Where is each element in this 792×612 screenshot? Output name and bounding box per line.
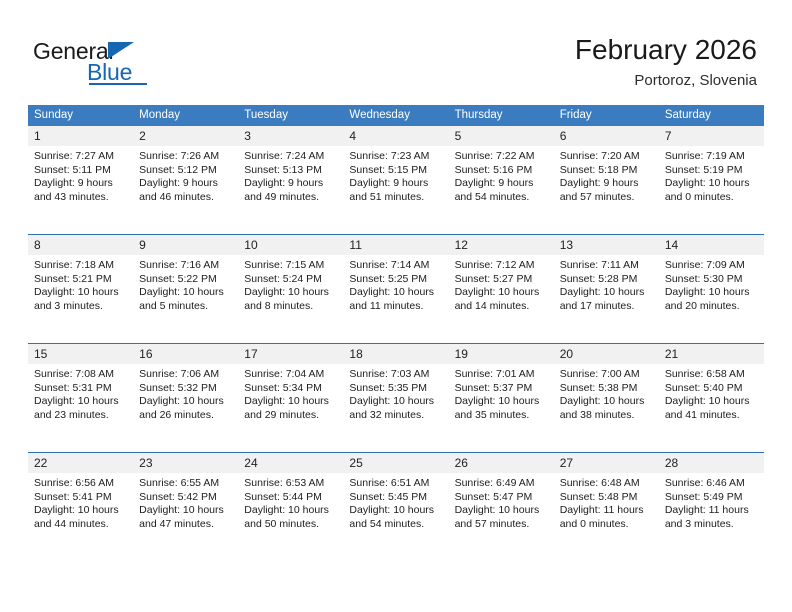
calendar-day-cell[interactable]: 13Sunrise: 7:11 AMSunset: 5:28 PMDayligh… (554, 235, 659, 344)
sunset-text: Sunset: 5:27 PM (455, 273, 548, 287)
day-details: Sunrise: 7:06 AMSunset: 5:32 PMDaylight:… (133, 364, 238, 422)
calendar-week-row: 22Sunrise: 6:56 AMSunset: 5:41 PMDayligh… (28, 453, 764, 562)
sunset-text: Sunset: 5:38 PM (560, 382, 653, 396)
sunrise-text: Sunrise: 7:03 AM (349, 368, 442, 382)
day-number: 1 (28, 126, 133, 146)
day-number: 25 (343, 453, 448, 473)
day-number: 21 (659, 344, 764, 364)
sunrise-text: Sunrise: 6:48 AM (560, 477, 653, 491)
daylight-text-line2: and 17 minutes. (560, 300, 653, 314)
day-details: Sunrise: 7:23 AMSunset: 5:15 PMDaylight:… (343, 146, 448, 204)
calendar-day-cell[interactable]: 19Sunrise: 7:01 AMSunset: 5:37 PMDayligh… (449, 344, 554, 453)
daylight-text-line1: Daylight: 10 hours (139, 286, 232, 300)
day-number: 9 (133, 235, 238, 255)
calendar-day-cell[interactable]: 17Sunrise: 7:04 AMSunset: 5:34 PMDayligh… (238, 344, 343, 453)
sunrise-text: Sunrise: 7:01 AM (455, 368, 548, 382)
sunrise-text: Sunrise: 7:24 AM (244, 150, 337, 164)
calendar-day-cell[interactable]: 9Sunrise: 7:16 AMSunset: 5:22 PMDaylight… (133, 235, 238, 344)
sunrise-text: Sunrise: 7:08 AM (34, 368, 127, 382)
day-number: 14 (659, 235, 764, 255)
daylight-text-line2: and 29 minutes. (244, 409, 337, 423)
day-details: Sunrise: 7:04 AMSunset: 5:34 PMDaylight:… (238, 364, 343, 422)
sunrise-text: Sunrise: 7:12 AM (455, 259, 548, 273)
daylight-text-line1: Daylight: 10 hours (349, 286, 442, 300)
daylight-text-line2: and 43 minutes. (34, 191, 127, 205)
daylight-text-line2: and 57 minutes. (455, 518, 548, 532)
sunset-text: Sunset: 5:40 PM (665, 382, 758, 396)
daylight-text-line1: Daylight: 10 hours (244, 504, 337, 518)
day-details: Sunrise: 7:11 AMSunset: 5:28 PMDaylight:… (554, 255, 659, 313)
calendar-day-cell[interactable]: 8Sunrise: 7:18 AMSunset: 5:21 PMDaylight… (28, 235, 133, 344)
sunrise-text: Sunrise: 7:14 AM (349, 259, 442, 273)
calendar-body: 1Sunrise: 7:27 AMSunset: 5:11 PMDaylight… (28, 126, 764, 561)
sunset-text: Sunset: 5:19 PM (665, 164, 758, 178)
sunset-text: Sunset: 5:22 PM (139, 273, 232, 287)
day-number: 18 (343, 344, 448, 364)
daylight-text-line1: Daylight: 9 hours (560, 177, 653, 191)
day-details: Sunrise: 6:56 AMSunset: 5:41 PMDaylight:… (28, 473, 133, 531)
calendar-day-cell[interactable]: 11Sunrise: 7:14 AMSunset: 5:25 PMDayligh… (343, 235, 448, 344)
page-title: February 2026 (575, 33, 757, 67)
calendar-week-row: 8Sunrise: 7:18 AMSunset: 5:21 PMDaylight… (28, 235, 764, 344)
day-details: Sunrise: 7:00 AMSunset: 5:38 PMDaylight:… (554, 364, 659, 422)
calendar-day-cell[interactable]: 28Sunrise: 6:46 AMSunset: 5:49 PMDayligh… (659, 453, 764, 562)
daylight-text-line1: Daylight: 10 hours (34, 504, 127, 518)
sunset-text: Sunset: 5:31 PM (34, 382, 127, 396)
day-number: 17 (238, 344, 343, 364)
sunset-text: Sunset: 5:44 PM (244, 491, 337, 505)
daylight-text-line2: and 14 minutes. (455, 300, 548, 314)
calendar-day-cell[interactable]: 1Sunrise: 7:27 AMSunset: 5:11 PMDaylight… (28, 126, 133, 235)
day-details: Sunrise: 7:26 AMSunset: 5:12 PMDaylight:… (133, 146, 238, 204)
calendar-day-cell[interactable]: 22Sunrise: 6:56 AMSunset: 5:41 PMDayligh… (28, 453, 133, 562)
daylight-text-line1: Daylight: 10 hours (349, 395, 442, 409)
day-details: Sunrise: 7:16 AMSunset: 5:22 PMDaylight:… (133, 255, 238, 313)
sunrise-text: Sunrise: 7:18 AM (34, 259, 127, 273)
calendar-day-cell[interactable]: 3Sunrise: 7:24 AMSunset: 5:13 PMDaylight… (238, 126, 343, 235)
daylight-text-line1: Daylight: 10 hours (139, 395, 232, 409)
daylight-text-line2: and 23 minutes. (34, 409, 127, 423)
daylight-text-line1: Daylight: 9 hours (139, 177, 232, 191)
page-header: General Blue February 2026 Portoroz, Slo… (0, 0, 792, 100)
sunset-text: Sunset: 5:41 PM (34, 491, 127, 505)
daylight-text-line2: and 44 minutes. (34, 518, 127, 532)
day-details: Sunrise: 7:09 AMSunset: 5:30 PMDaylight:… (659, 255, 764, 313)
daylight-text-line2: and 47 minutes. (139, 518, 232, 532)
title-block: February 2026 Portoroz, Slovenia (575, 33, 757, 91)
weekday-header-sunday: Sunday (28, 105, 133, 126)
sunset-text: Sunset: 5:34 PM (244, 382, 337, 396)
daylight-text-line1: Daylight: 9 hours (34, 177, 127, 191)
day-number: 7 (659, 126, 764, 146)
day-details: Sunrise: 7:18 AMSunset: 5:21 PMDaylight:… (28, 255, 133, 313)
sunset-text: Sunset: 5:11 PM (34, 164, 127, 178)
daylight-text-line1: Daylight: 10 hours (34, 286, 127, 300)
calendar-day-cell[interactable]: 25Sunrise: 6:51 AMSunset: 5:45 PMDayligh… (343, 453, 448, 562)
sunrise-text: Sunrise: 7:06 AM (139, 368, 232, 382)
daylight-text-line2: and 57 minutes. (560, 191, 653, 205)
daylight-text-line1: Daylight: 10 hours (665, 286, 758, 300)
day-number: 26 (449, 453, 554, 473)
daylight-text-line2: and 49 minutes. (244, 191, 337, 205)
sunrise-text: Sunrise: 6:49 AM (455, 477, 548, 491)
calendar-day-cell[interactable]: 24Sunrise: 6:53 AMSunset: 5:44 PMDayligh… (238, 453, 343, 562)
day-number: 6 (554, 126, 659, 146)
general-blue-logo: General Blue (33, 38, 203, 86)
day-number: 2 (133, 126, 238, 146)
calendar-day-cell[interactable]: 5Sunrise: 7:22 AMSunset: 5:16 PMDaylight… (449, 126, 554, 235)
calendar-day-cell[interactable]: 7Sunrise: 7:19 AMSunset: 5:19 PMDaylight… (659, 126, 764, 235)
sunrise-text: Sunrise: 7:22 AM (455, 150, 548, 164)
sunset-text: Sunset: 5:16 PM (455, 164, 548, 178)
sunrise-text: Sunrise: 7:00 AM (560, 368, 653, 382)
sunrise-text: Sunrise: 6:58 AM (665, 368, 758, 382)
sunset-text: Sunset: 5:35 PM (349, 382, 442, 396)
daylight-text-line2: and 5 minutes. (139, 300, 232, 314)
daylight-text-line2: and 54 minutes. (349, 518, 442, 532)
calendar-day-cell[interactable]: 26Sunrise: 6:49 AMSunset: 5:47 PMDayligh… (449, 453, 554, 562)
sunset-text: Sunset: 5:21 PM (34, 273, 127, 287)
weekday-header-wednesday: Wednesday (343, 105, 448, 126)
calendar-day-cell[interactable]: 15Sunrise: 7:08 AMSunset: 5:31 PMDayligh… (28, 344, 133, 453)
sunset-text: Sunset: 5:15 PM (349, 164, 442, 178)
calendar-day-cell[interactable]: 20Sunrise: 7:00 AMSunset: 5:38 PMDayligh… (554, 344, 659, 453)
day-number: 11 (343, 235, 448, 255)
day-number: 10 (238, 235, 343, 255)
daylight-text-line2: and 32 minutes. (349, 409, 442, 423)
day-details: Sunrise: 7:08 AMSunset: 5:31 PMDaylight:… (28, 364, 133, 422)
sunrise-text: Sunrise: 6:56 AM (34, 477, 127, 491)
sunset-text: Sunset: 5:48 PM (560, 491, 653, 505)
weekday-header-saturday: Saturday (659, 105, 764, 126)
day-details: Sunrise: 7:20 AMSunset: 5:18 PMDaylight:… (554, 146, 659, 204)
sunset-text: Sunset: 5:18 PM (560, 164, 653, 178)
daylight-text-line2: and 20 minutes. (665, 300, 758, 314)
daylight-text-line1: Daylight: 10 hours (455, 504, 548, 518)
calendar-day-cell[interactable]: 14Sunrise: 7:09 AMSunset: 5:30 PMDayligh… (659, 235, 764, 344)
daylight-text-line1: Daylight: 9 hours (244, 177, 337, 191)
calendar-day-cell[interactable]: 4Sunrise: 7:23 AMSunset: 5:15 PMDaylight… (343, 126, 448, 235)
daylight-text-line2: and 3 minutes. (34, 300, 127, 314)
weekday-header-monday: Monday (133, 105, 238, 126)
sunset-text: Sunset: 5:25 PM (349, 273, 442, 287)
daylight-text-line1: Daylight: 10 hours (560, 395, 653, 409)
daylight-text-line1: Daylight: 10 hours (560, 286, 653, 300)
calendar-day-cell[interactable]: 16Sunrise: 7:06 AMSunset: 5:32 PMDayligh… (133, 344, 238, 453)
day-number: 24 (238, 453, 343, 473)
sunset-text: Sunset: 5:12 PM (139, 164, 232, 178)
weekday-header-tuesday: Tuesday (238, 105, 343, 126)
sunset-text: Sunset: 5:30 PM (665, 273, 758, 287)
daylight-text-line1: Daylight: 10 hours (139, 504, 232, 518)
logo-text-blue: Blue (87, 59, 132, 85)
sunset-text: Sunset: 5:49 PM (665, 491, 758, 505)
daylight-text-line1: Daylight: 10 hours (34, 395, 127, 409)
weekday-header-friday: Friday (554, 105, 659, 126)
day-number: 5 (449, 126, 554, 146)
day-details: Sunrise: 6:58 AMSunset: 5:40 PMDaylight:… (659, 364, 764, 422)
sunrise-text: Sunrise: 6:53 AM (244, 477, 337, 491)
day-number: 23 (133, 453, 238, 473)
daylight-text-line2: and 50 minutes. (244, 518, 337, 532)
day-details: Sunrise: 7:22 AMSunset: 5:16 PMDaylight:… (449, 146, 554, 204)
daylight-text-line1: Daylight: 9 hours (455, 177, 548, 191)
daylight-text-line1: Daylight: 10 hours (455, 286, 548, 300)
daylight-text-line2: and 11 minutes. (349, 300, 442, 314)
sunrise-text: Sunrise: 6:46 AM (665, 477, 758, 491)
sunrise-text: Sunrise: 7:20 AM (560, 150, 653, 164)
calendar-day-cell[interactable]: 27Sunrise: 6:48 AMSunset: 5:48 PMDayligh… (554, 453, 659, 562)
day-number: 27 (554, 453, 659, 473)
calendar-week-row: 1Sunrise: 7:27 AMSunset: 5:11 PMDaylight… (28, 126, 764, 235)
day-number: 8 (28, 235, 133, 255)
day-number: 16 (133, 344, 238, 364)
daylight-text-line1: Daylight: 10 hours (244, 395, 337, 409)
daylight-text-line1: Daylight: 10 hours (665, 177, 758, 191)
day-details: Sunrise: 7:27 AMSunset: 5:11 PMDaylight:… (28, 146, 133, 204)
calendar-day-cell[interactable]: 10Sunrise: 7:15 AMSunset: 5:24 PMDayligh… (238, 235, 343, 344)
weekday-header-thursday: Thursday (449, 105, 554, 126)
day-details: Sunrise: 7:12 AMSunset: 5:27 PMDaylight:… (449, 255, 554, 313)
sunrise-text: Sunrise: 7:27 AM (34, 150, 127, 164)
logo-underline (89, 83, 147, 85)
sunrise-text: Sunrise: 7:23 AM (349, 150, 442, 164)
sunset-text: Sunset: 5:37 PM (455, 382, 548, 396)
daylight-text-line1: Daylight: 10 hours (349, 504, 442, 518)
calendar-day-cell[interactable]: 2Sunrise: 7:26 AMSunset: 5:12 PMDaylight… (133, 126, 238, 235)
day-number: 4 (343, 126, 448, 146)
daylight-text-line2: and 51 minutes. (349, 191, 442, 205)
sunrise-text: Sunrise: 6:55 AM (139, 477, 232, 491)
sunrise-text: Sunrise: 7:16 AM (139, 259, 232, 273)
calendar-table: Sunday Monday Tuesday Wednesday Thursday… (28, 105, 764, 561)
sunset-text: Sunset: 5:28 PM (560, 273, 653, 287)
calendar-day-cell[interactable]: 21Sunrise: 6:58 AMSunset: 5:40 PMDayligh… (659, 344, 764, 453)
day-details: Sunrise: 7:03 AMSunset: 5:35 PMDaylight:… (343, 364, 448, 422)
day-number: 20 (554, 344, 659, 364)
day-details: Sunrise: 6:55 AMSunset: 5:42 PMDaylight:… (133, 473, 238, 531)
daylight-text-line2: and 0 minutes. (665, 191, 758, 205)
day-details: Sunrise: 6:49 AMSunset: 5:47 PMDaylight:… (449, 473, 554, 531)
sunrise-text: Sunrise: 6:51 AM (349, 477, 442, 491)
day-number: 19 (449, 344, 554, 364)
calendar-day-cell[interactable]: 18Sunrise: 7:03 AMSunset: 5:35 PMDayligh… (343, 344, 448, 453)
sunset-text: Sunset: 5:45 PM (349, 491, 442, 505)
sunrise-text: Sunrise: 7:26 AM (139, 150, 232, 164)
daylight-text-line2: and 35 minutes. (455, 409, 548, 423)
calendar-page: General Blue February 2026 Portoroz, Slo… (0, 0, 792, 612)
daylight-text-line1: Daylight: 9 hours (349, 177, 442, 191)
daylight-text-line2: and 54 minutes. (455, 191, 548, 205)
sunrise-text: Sunrise: 7:04 AM (244, 368, 337, 382)
daylight-text-line2: and 3 minutes. (665, 518, 758, 532)
day-details: Sunrise: 6:48 AMSunset: 5:48 PMDaylight:… (554, 473, 659, 531)
day-details: Sunrise: 7:19 AMSunset: 5:19 PMDaylight:… (659, 146, 764, 204)
day-details: Sunrise: 7:14 AMSunset: 5:25 PMDaylight:… (343, 255, 448, 313)
logo-triangle-icon (108, 42, 134, 59)
daylight-text-line2: and 0 minutes. (560, 518, 653, 532)
calendar-day-cell[interactable]: 12Sunrise: 7:12 AMSunset: 5:27 PMDayligh… (449, 235, 554, 344)
daylight-text-line2: and 38 minutes. (560, 409, 653, 423)
day-number: 12 (449, 235, 554, 255)
daylight-text-line2: and 46 minutes. (139, 191, 232, 205)
day-details: Sunrise: 7:15 AMSunset: 5:24 PMDaylight:… (238, 255, 343, 313)
daylight-text-line1: Daylight: 11 hours (560, 504, 653, 518)
sunset-text: Sunset: 5:42 PM (139, 491, 232, 505)
calendar-day-cell[interactable]: 23Sunrise: 6:55 AMSunset: 5:42 PMDayligh… (133, 453, 238, 562)
day-number: 13 (554, 235, 659, 255)
sunrise-text: Sunrise: 7:19 AM (665, 150, 758, 164)
day-details: Sunrise: 7:24 AMSunset: 5:13 PMDaylight:… (238, 146, 343, 204)
sunset-text: Sunset: 5:47 PM (455, 491, 548, 505)
sunset-text: Sunset: 5:24 PM (244, 273, 337, 287)
calendar-header-row: Sunday Monday Tuesday Wednesday Thursday… (28, 105, 764, 126)
sunset-text: Sunset: 5:13 PM (244, 164, 337, 178)
day-number: 3 (238, 126, 343, 146)
day-number: 28 (659, 453, 764, 473)
day-details: Sunrise: 6:51 AMSunset: 5:45 PMDaylight:… (343, 473, 448, 531)
day-details: Sunrise: 7:01 AMSunset: 5:37 PMDaylight:… (449, 364, 554, 422)
daylight-text-line2: and 8 minutes. (244, 300, 337, 314)
day-number: 15 (28, 344, 133, 364)
daylight-text-line2: and 26 minutes. (139, 409, 232, 423)
daylight-text-line2: and 41 minutes. (665, 409, 758, 423)
daylight-text-line1: Daylight: 10 hours (455, 395, 548, 409)
page-subtitle: Portoroz, Slovenia (575, 71, 757, 91)
sunrise-text: Sunrise: 7:15 AM (244, 259, 337, 273)
daylight-text-line1: Daylight: 11 hours (665, 504, 758, 518)
calendar-week-row: 15Sunrise: 7:08 AMSunset: 5:31 PMDayligh… (28, 344, 764, 453)
daylight-text-line1: Daylight: 10 hours (665, 395, 758, 409)
calendar-day-cell[interactable]: 6Sunrise: 7:20 AMSunset: 5:18 PMDaylight… (554, 126, 659, 235)
sunrise-text: Sunrise: 7:11 AM (560, 259, 653, 273)
day-details: Sunrise: 6:46 AMSunset: 5:49 PMDaylight:… (659, 473, 764, 531)
daylight-text-line1: Daylight: 10 hours (244, 286, 337, 300)
sunset-text: Sunset: 5:32 PM (139, 382, 232, 396)
day-details: Sunrise: 6:53 AMSunset: 5:44 PMDaylight:… (238, 473, 343, 531)
sunrise-text: Sunrise: 7:09 AM (665, 259, 758, 273)
day-number: 22 (28, 453, 133, 473)
